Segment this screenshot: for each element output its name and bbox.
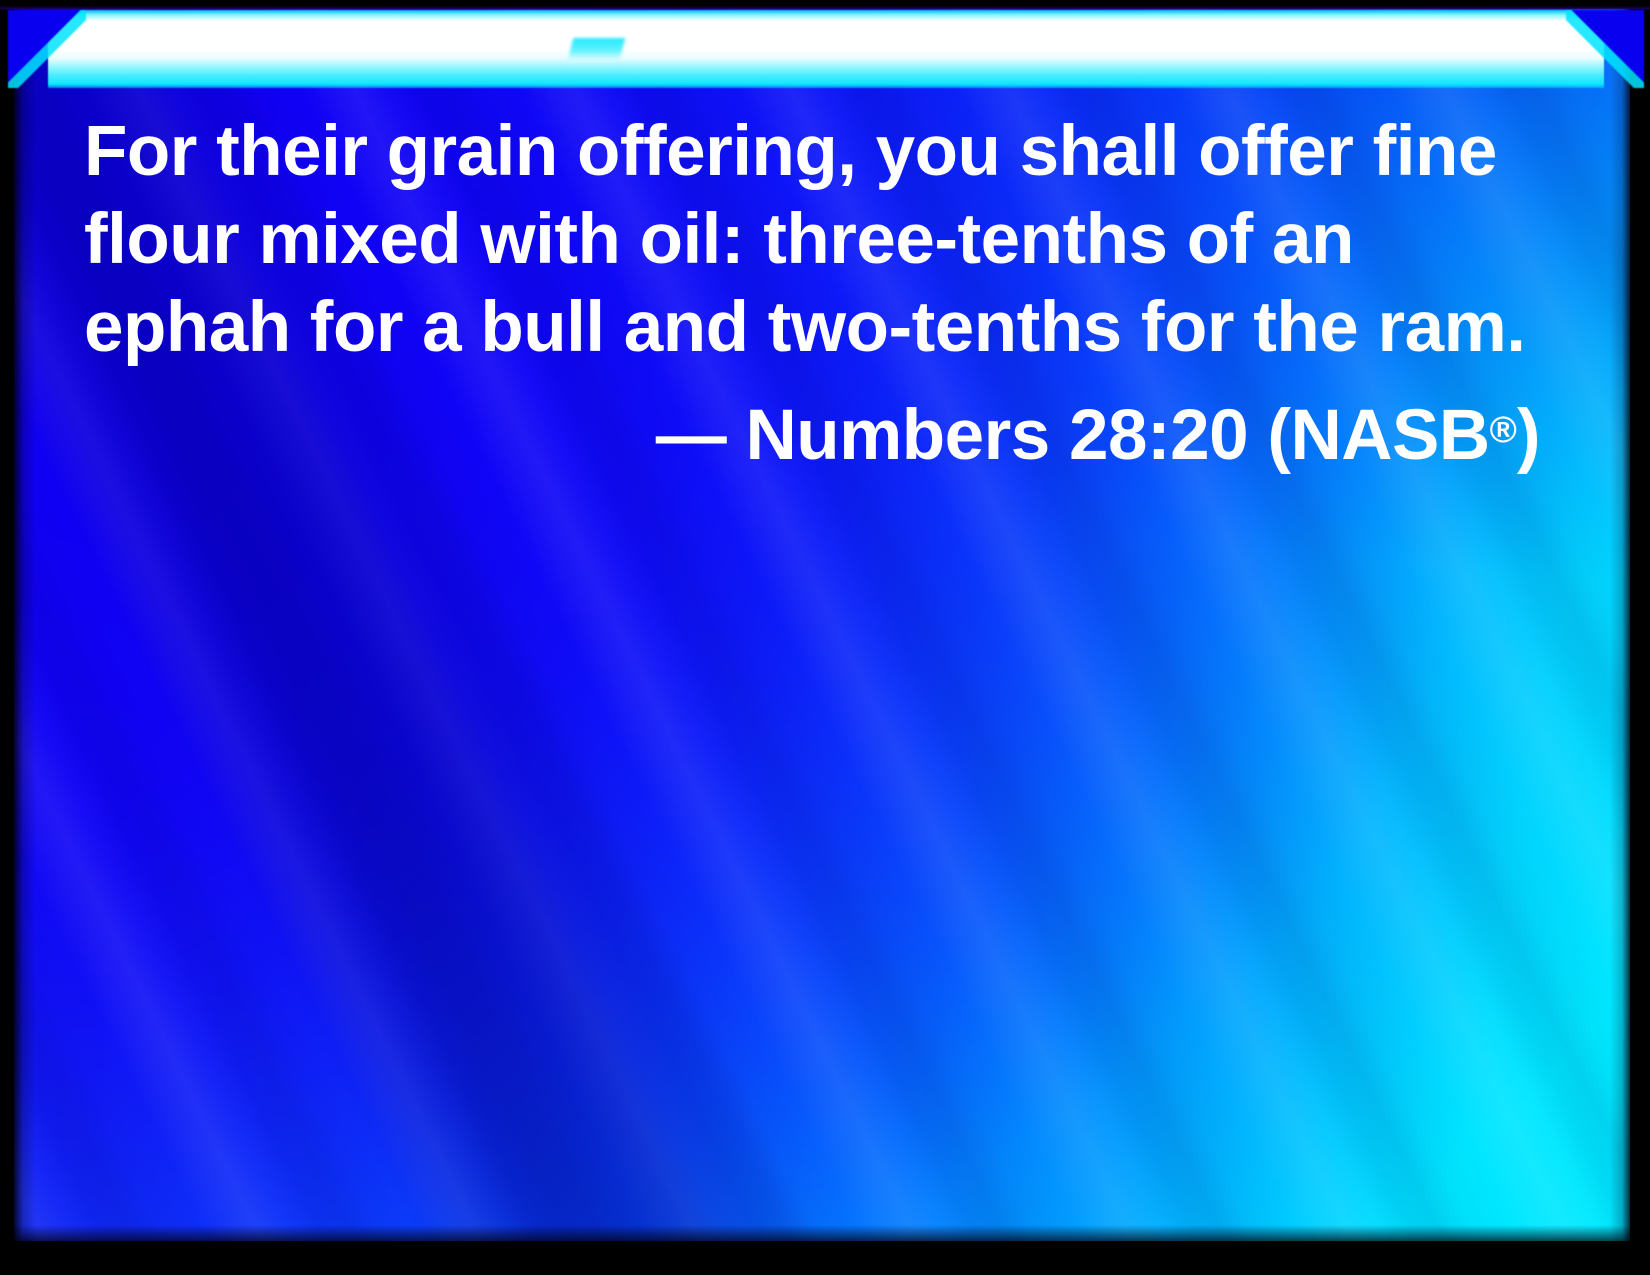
verse-body-text: For their grain offering, you shall offe…: [84, 108, 1554, 372]
attribution-prefix: — Numbers 28:20 (NASB: [656, 396, 1490, 475]
registered-trademark-icon: ®: [1490, 409, 1517, 450]
verse-text-block: For their grain offering, you shall offe…: [84, 108, 1554, 480]
top-glow-notch-artifact: [567, 38, 625, 64]
top-black-hairline: [0, 0, 1650, 10]
top-glow-band: [48, 10, 1604, 88]
bible-verse-slide: For their grain offering, you shall offe…: [0, 0, 1650, 1275]
attribution-suffix: ): [1517, 396, 1540, 475]
verse-attribution: — Numbers 28:20 (NASB®): [84, 372, 1554, 480]
